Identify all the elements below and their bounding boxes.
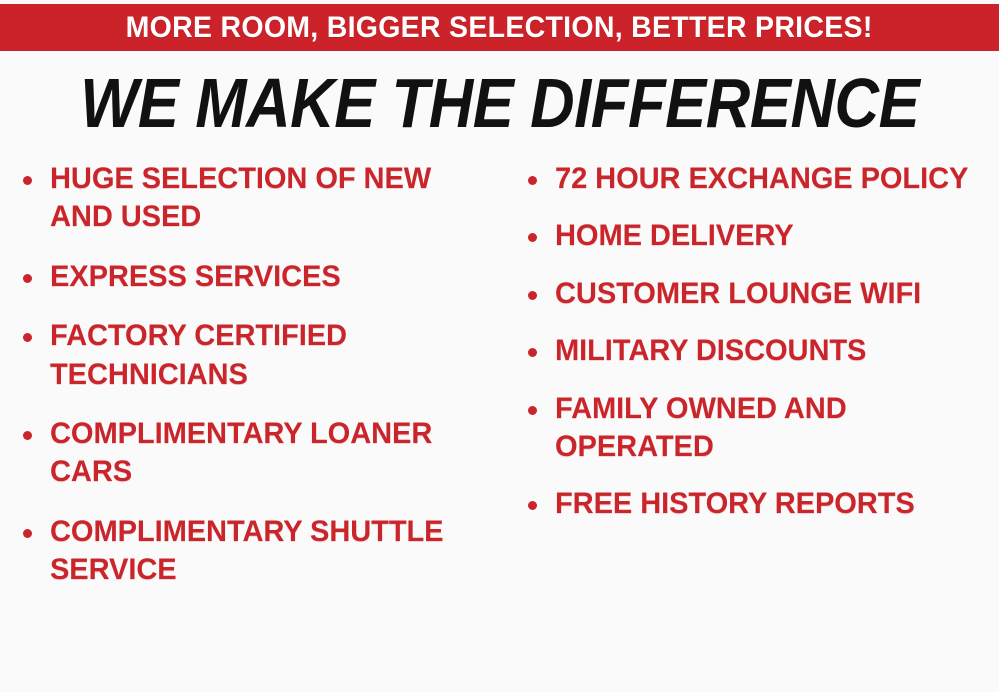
headline-container: WE MAKE THE DIFFERENCE bbox=[0, 62, 999, 144]
list-item-label: CUSTOMER LOUNGE WIFI bbox=[555, 275, 986, 313]
list-item-label: HOME DELIVERY bbox=[555, 217, 986, 255]
bullet-dot-icon bbox=[528, 406, 537, 415]
bullet-dot-icon bbox=[528, 176, 537, 185]
bullet-dot-icon bbox=[528, 348, 537, 357]
list-item: FAMILY OWNED AND OPERATED bbox=[521, 390, 999, 467]
list-item-label: COMPLIMENTARY LOANER CARS bbox=[50, 415, 491, 492]
list-item: COMPLIMENTARY LOANER CARS bbox=[16, 415, 505, 492]
list-item-label: 72 HOUR EXCHANGE POLICY bbox=[555, 160, 986, 198]
bullet-dot-icon bbox=[528, 233, 537, 242]
advertisement-banner: MORE ROOM, BIGGER SELECTION, BETTER PRIC… bbox=[0, 0, 999, 692]
top-red-banner: MORE ROOM, BIGGER SELECTION, BETTER PRIC… bbox=[0, 4, 999, 51]
feature-list-left: HUGE SELECTION OF NEW AND USED EXPRESS S… bbox=[16, 160, 505, 590]
bullet-dot-icon bbox=[23, 176, 32, 185]
list-item-label: FACTORY CERTIFIED TECHNICIANS bbox=[50, 317, 491, 394]
list-item-label: FREE HISTORY REPORTS bbox=[555, 485, 986, 523]
list-item-label: MILITARY DISCOUNTS bbox=[555, 332, 986, 370]
bullet-dot-icon bbox=[23, 431, 32, 440]
bullet-dot-icon bbox=[23, 274, 32, 283]
bullet-dot-icon bbox=[528, 291, 537, 300]
list-item: MILITARY DISCOUNTS bbox=[521, 332, 999, 370]
list-item: EXPRESS SERVICES bbox=[16, 258, 505, 296]
list-item: 72 HOUR EXCHANGE POLICY bbox=[521, 160, 999, 198]
bullet-dot-icon bbox=[23, 333, 32, 342]
list-item-label: EXPRESS SERVICES bbox=[50, 258, 491, 296]
list-item-label: COMPLIMENTARY SHUTTLE SERVICE bbox=[50, 513, 491, 590]
list-item: FREE HISTORY REPORTS bbox=[521, 485, 999, 523]
list-item: HUGE SELECTION OF NEW AND USED bbox=[16, 160, 505, 237]
features-column-left: HUGE SELECTION OF NEW AND USED EXPRESS S… bbox=[0, 160, 505, 692]
features-columns: HUGE SELECTION OF NEW AND USED EXPRESS S… bbox=[0, 160, 999, 692]
feature-list-right: 72 HOUR EXCHANGE POLICY HOME DELIVERY CU… bbox=[521, 160, 999, 524]
bullet-dot-icon bbox=[23, 529, 32, 538]
list-item-label: FAMILY OWNED AND OPERATED bbox=[555, 390, 986, 467]
banner-headline-text: MORE ROOM, BIGGER SELECTION, BETTER PRIC… bbox=[126, 13, 873, 43]
list-item-label: HUGE SELECTION OF NEW AND USED bbox=[50, 160, 491, 237]
list-item: FACTORY CERTIFIED TECHNICIANS bbox=[16, 317, 505, 394]
features-column-right: 72 HOUR EXCHANGE POLICY HOME DELIVERY CU… bbox=[505, 160, 999, 692]
list-item: COMPLIMENTARY SHUTTLE SERVICE bbox=[16, 513, 505, 590]
page-title: WE MAKE THE DIFFERENCE bbox=[80, 68, 919, 138]
list-item: CUSTOMER LOUNGE WIFI bbox=[521, 275, 999, 313]
bullet-dot-icon bbox=[528, 501, 537, 510]
list-item: HOME DELIVERY bbox=[521, 217, 999, 255]
